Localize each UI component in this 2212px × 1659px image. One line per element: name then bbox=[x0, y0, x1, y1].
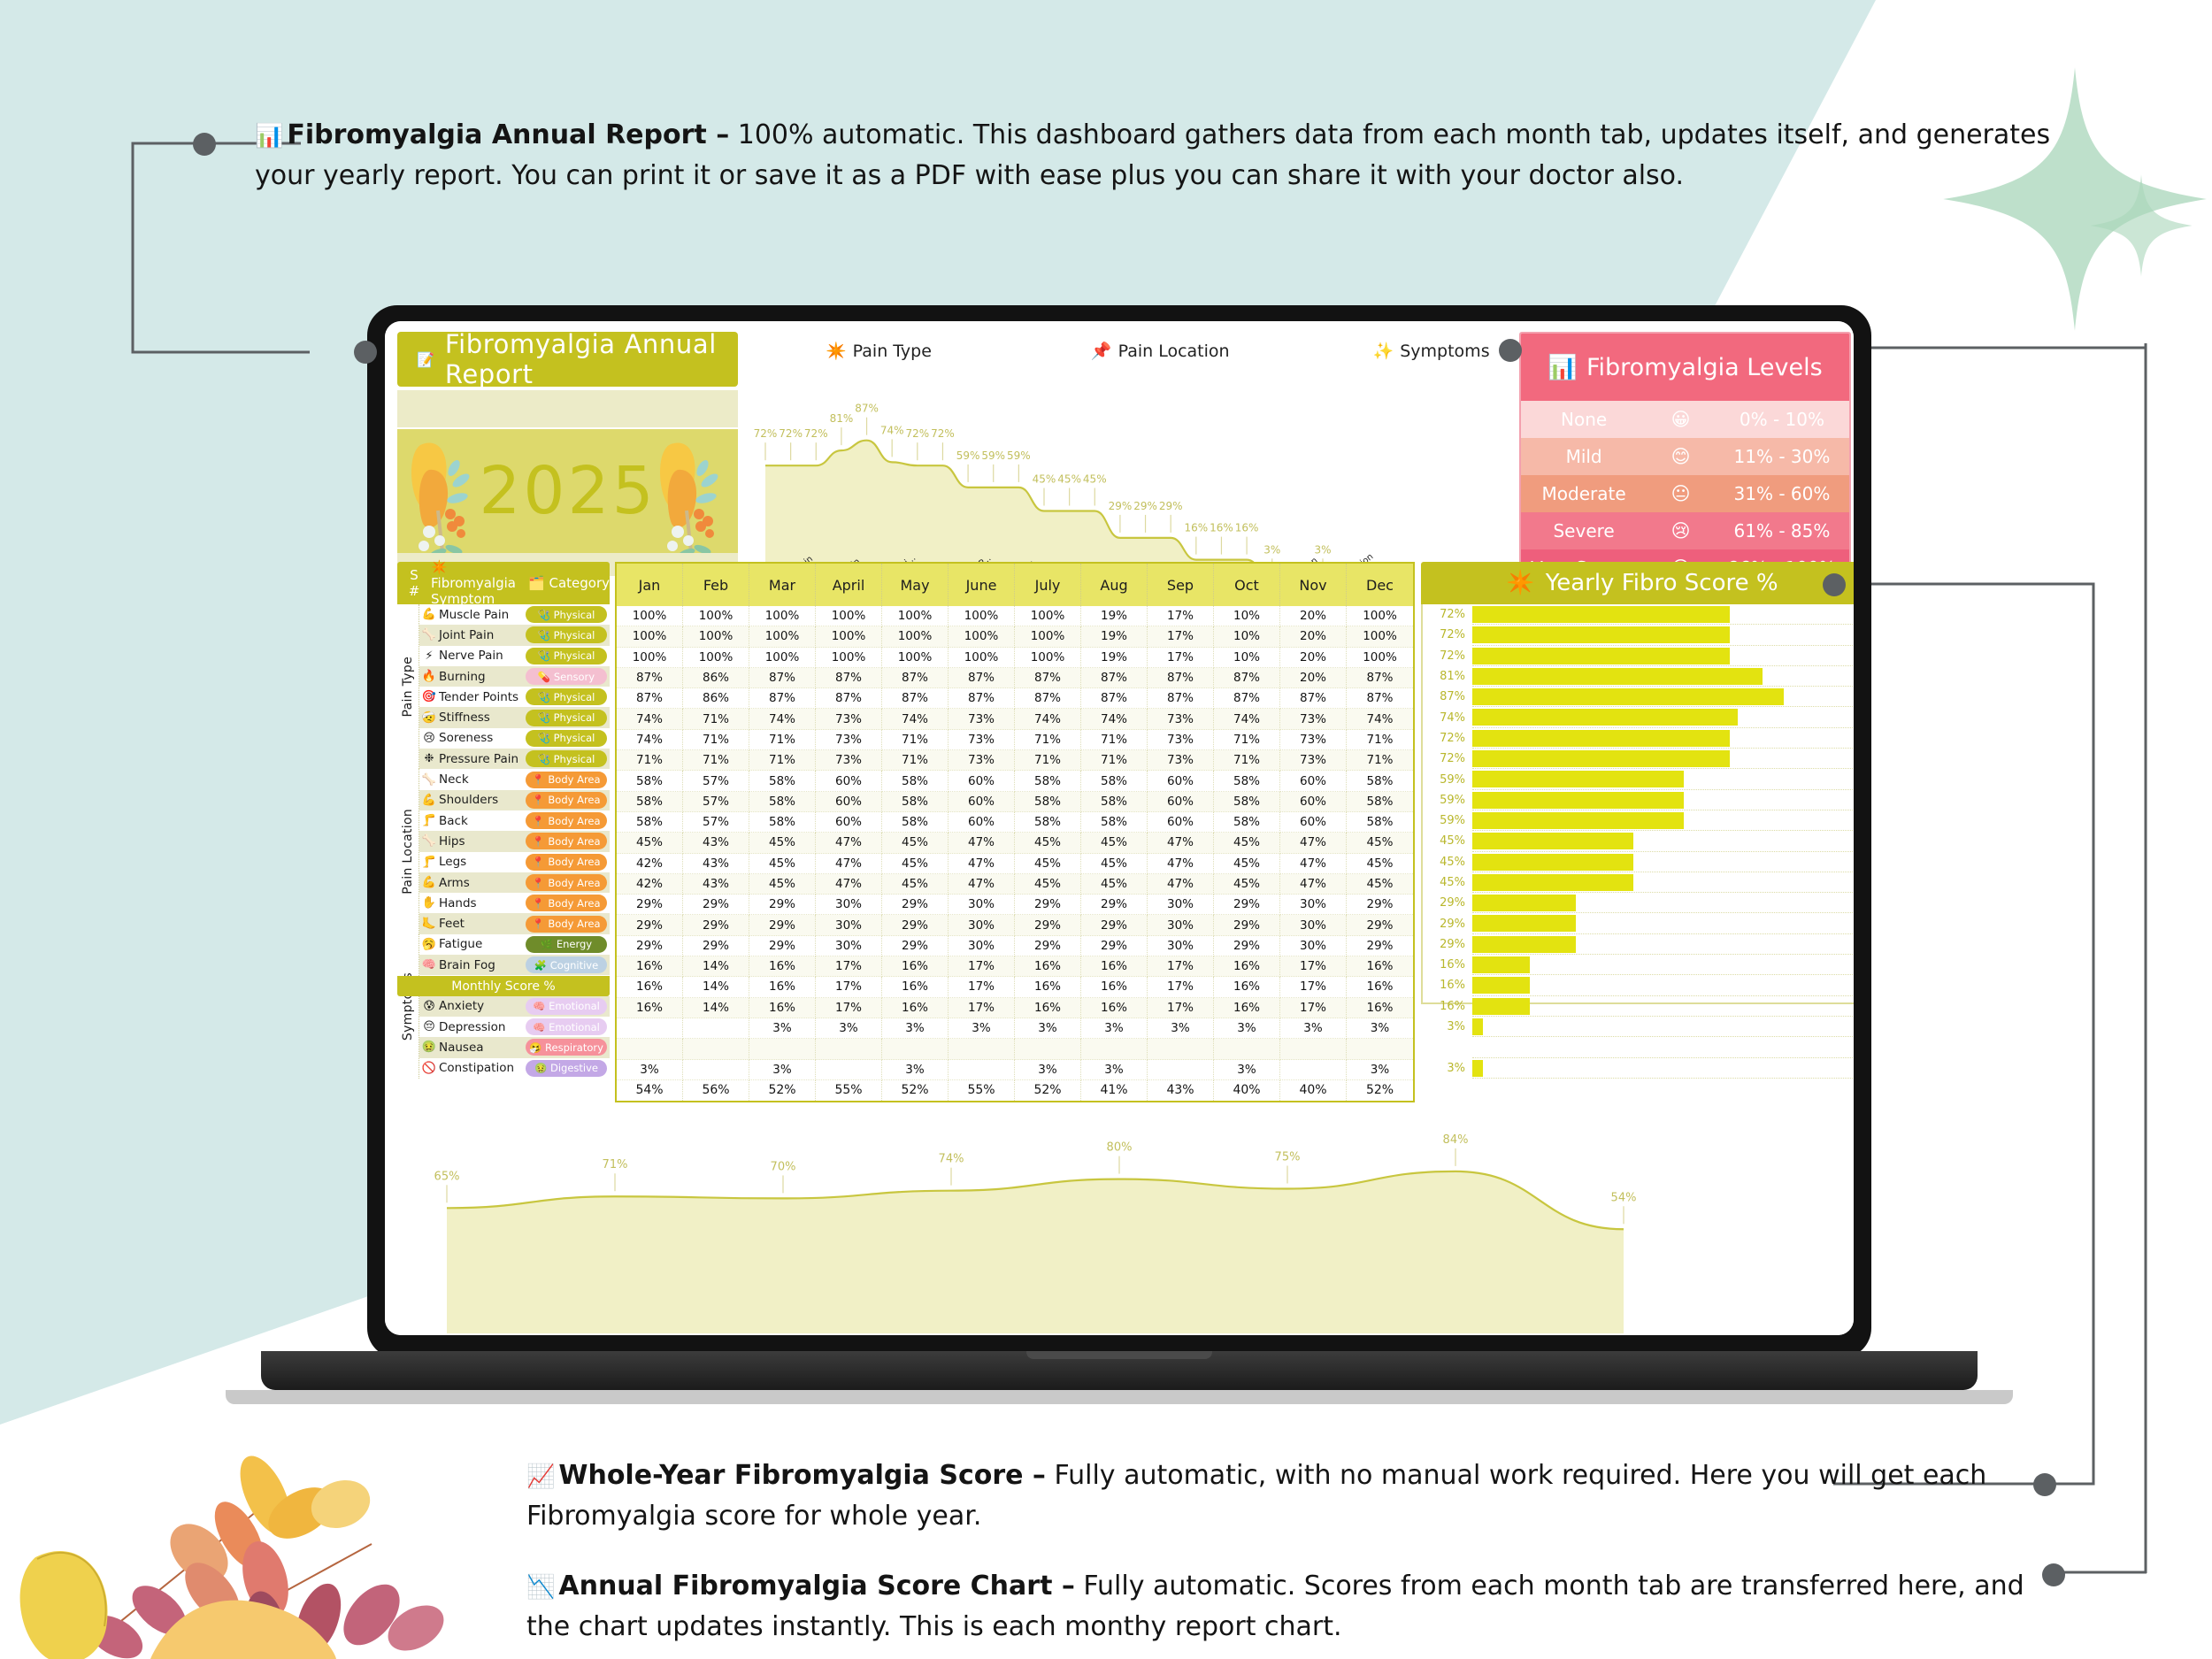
month-data-cell[interactable]: 87% bbox=[617, 688, 683, 709]
month-data-cell[interactable]: 17% bbox=[1280, 956, 1347, 977]
month-data-cell[interactable]: 71% bbox=[1214, 730, 1280, 750]
month-data-row[interactable]: 29%29%29%30%29%30%29%29%30%29%30%29% bbox=[617, 895, 1413, 915]
table-row[interactable]: 🦴Neck📍 Body Area bbox=[419, 769, 610, 789]
month-data-cell[interactable]: 30% bbox=[949, 915, 1015, 935]
month-data-cell[interactable] bbox=[1148, 1039, 1214, 1059]
month-data-cell[interactable]: 60% bbox=[1280, 792, 1347, 812]
month-data-cell[interactable]: 16% bbox=[1347, 956, 1413, 977]
month-data-cell[interactable]: 29% bbox=[617, 915, 683, 935]
month-data-cell[interactable]: 29% bbox=[749, 895, 816, 915]
month-data-cell[interactable]: 29% bbox=[882, 895, 949, 915]
month-data-row[interactable]: 42%43%45%47%45%47%45%45%47%45%47%45% bbox=[617, 874, 1413, 895]
month-data-cell[interactable]: 30% bbox=[816, 915, 882, 935]
table-row[interactable]: 🥱Fatigue🌿 Energy bbox=[419, 934, 610, 955]
month-data-cell[interactable]: 45% bbox=[882, 874, 949, 895]
month-data-cell[interactable] bbox=[683, 1060, 749, 1080]
table-row[interactable]: 🔥Burning💊 Sensory bbox=[419, 666, 610, 687]
table-row[interactable]: 🦴Hips📍 Body Area bbox=[419, 831, 610, 851]
month-data-cell[interactable]: 29% bbox=[1214, 895, 1280, 915]
month-data-cell[interactable]: 87% bbox=[1347, 668, 1413, 688]
month-data-row[interactable]: 100%100%100%100%100%100%100%19%17%10%20%… bbox=[617, 626, 1413, 647]
month-data-cell[interactable]: 14% bbox=[683, 998, 749, 1018]
month-data-cell[interactable]: 73% bbox=[1280, 709, 1347, 729]
month-data-cell[interactable]: 73% bbox=[816, 709, 882, 729]
month-data-cell[interactable]: 60% bbox=[949, 812, 1015, 833]
month-data-cell[interactable]: 45% bbox=[882, 833, 949, 853]
month-data-cell[interactable]: 100% bbox=[749, 606, 816, 626]
month-data-cell[interactable]: 60% bbox=[1280, 812, 1347, 833]
month-data-cell[interactable]: 71% bbox=[882, 750, 949, 771]
month-data-cell[interactable]: 74% bbox=[1015, 709, 1081, 729]
table-row[interactable]: 💪Muscle Pain🩺 Physical bbox=[419, 604, 610, 625]
month-data-cell[interactable]: 30% bbox=[949, 895, 1015, 915]
month-data-row[interactable]: 3%3%3%3%3%3%3%3%3%3% bbox=[617, 1018, 1413, 1039]
month-data-cell[interactable]: 58% bbox=[1081, 792, 1148, 812]
table-row[interactable]: 🎯Tender Points🩺 Physical bbox=[419, 687, 610, 707]
month-data-cell[interactable]: 16% bbox=[1015, 956, 1081, 977]
month-data-cell[interactable]: 29% bbox=[882, 915, 949, 935]
month-data-cell[interactable]: 71% bbox=[1015, 730, 1081, 750]
month-data-cell[interactable]: 73% bbox=[1280, 750, 1347, 771]
month-data-cell[interactable]: 29% bbox=[1347, 915, 1413, 935]
month-data-cell[interactable]: 100% bbox=[816, 606, 882, 626]
month-data-cell[interactable]: 3% bbox=[1081, 1060, 1148, 1080]
month-data-cell[interactable] bbox=[617, 1018, 683, 1039]
month-data-cell[interactable]: 100% bbox=[1347, 626, 1413, 647]
month-data-cell[interactable] bbox=[816, 1039, 882, 1059]
month-data-cell[interactable]: 45% bbox=[1015, 833, 1081, 853]
month-data-cell[interactable]: 57% bbox=[683, 792, 749, 812]
month-data-cell[interactable]: 45% bbox=[1347, 874, 1413, 895]
month-data-cell[interactable]: 87% bbox=[1347, 688, 1413, 709]
month-data-cell[interactable]: 3% bbox=[816, 1018, 882, 1039]
month-data-cell[interactable]: 45% bbox=[1081, 874, 1148, 895]
month-data-cell[interactable]: 17% bbox=[1148, 648, 1214, 668]
month-data-cell[interactable]: 17% bbox=[816, 956, 882, 977]
month-data-cell[interactable]: 29% bbox=[1347, 895, 1413, 915]
month-data-cell[interactable]: 16% bbox=[1214, 998, 1280, 1018]
month-data-cell[interactable]: 45% bbox=[1015, 874, 1081, 895]
month-data-cell[interactable] bbox=[949, 1039, 1015, 1059]
month-data-cell[interactable]: 100% bbox=[617, 606, 683, 626]
month-data-cell[interactable]: 45% bbox=[617, 833, 683, 853]
month-data-cell[interactable]: 16% bbox=[749, 998, 816, 1018]
month-data-cell[interactable]: 47% bbox=[1280, 833, 1347, 853]
month-data-cell[interactable]: 19% bbox=[1081, 606, 1148, 626]
table-row[interactable]: 💪Shoulders📍 Body Area bbox=[419, 790, 610, 810]
month-data-cell[interactable]: 87% bbox=[749, 688, 816, 709]
month-data-cell[interactable]: 3% bbox=[1081, 1018, 1148, 1039]
month-data-row[interactable]: 74%71%74%73%74%73%74%74%73%74%73%74% bbox=[617, 709, 1413, 729]
month-data-cell[interactable]: 87% bbox=[617, 668, 683, 688]
month-data-cell[interactable]: 100% bbox=[949, 626, 1015, 647]
month-data-cell[interactable]: 17% bbox=[949, 977, 1015, 997]
month-data-cell[interactable]: 74% bbox=[617, 730, 683, 750]
month-data-cell[interactable]: 47% bbox=[816, 874, 882, 895]
month-data-cell[interactable]: 74% bbox=[882, 709, 949, 729]
month-data-cell[interactable]: 16% bbox=[1214, 977, 1280, 997]
month-data-row[interactable]: 87%86%87%87%87%87%87%87%87%87%87%87% bbox=[617, 688, 1413, 709]
month-data-cell[interactable]: 100% bbox=[617, 626, 683, 647]
month-data-cell[interactable]: 87% bbox=[1015, 688, 1081, 709]
month-data-cell[interactable]: 86% bbox=[683, 668, 749, 688]
month-data-cell[interactable]: 17% bbox=[1280, 977, 1347, 997]
month-data-cell[interactable]: 30% bbox=[816, 895, 882, 915]
month-data-cell[interactable] bbox=[1015, 1039, 1081, 1059]
month-data-cell[interactable]: 17% bbox=[816, 998, 882, 1018]
month-data-cell[interactable]: 47% bbox=[1280, 854, 1347, 874]
month-data-cell[interactable]: 73% bbox=[949, 750, 1015, 771]
month-data-cell[interactable]: 47% bbox=[816, 854, 882, 874]
month-data-cell[interactable]: 16% bbox=[1081, 977, 1148, 997]
month-data-cell[interactable]: 73% bbox=[949, 709, 1015, 729]
month-data-cell[interactable]: 100% bbox=[1015, 606, 1081, 626]
month-data-cell[interactable]: 45% bbox=[1347, 854, 1413, 874]
month-data-cell[interactable]: 16% bbox=[1347, 998, 1413, 1018]
month-data-cell[interactable]: 45% bbox=[1214, 874, 1280, 895]
month-data-cell[interactable]: 3% bbox=[1347, 1018, 1413, 1039]
month-data-cell[interactable]: 3% bbox=[1214, 1060, 1280, 1080]
month-data-cell[interactable]: 45% bbox=[1214, 854, 1280, 874]
month-data-cell[interactable]: 60% bbox=[816, 792, 882, 812]
month-data-cell[interactable]: 87% bbox=[949, 688, 1015, 709]
month-data-cell[interactable]: 16% bbox=[1015, 977, 1081, 997]
table-row[interactable]: 😰Anxiety🧠 Emotional bbox=[419, 996, 610, 1017]
month-data-cell[interactable]: 60% bbox=[1148, 771, 1214, 791]
month-data-row[interactable]: 16%14%16%17%16%17%16%16%17%16%17%16% bbox=[617, 998, 1413, 1018]
month-data-cell[interactable]: 71% bbox=[1347, 730, 1413, 750]
month-data-cell[interactable]: 29% bbox=[1015, 915, 1081, 935]
month-data-cell[interactable]: 29% bbox=[1214, 915, 1280, 935]
month-data-cell[interactable]: 87% bbox=[1148, 688, 1214, 709]
month-data-cell[interactable]: 87% bbox=[882, 668, 949, 688]
month-data-cell[interactable]: 47% bbox=[949, 874, 1015, 895]
month-data-cell[interactable] bbox=[1280, 1060, 1347, 1080]
month-data-cell[interactable]: 71% bbox=[683, 750, 749, 771]
month-data-cell[interactable]: 60% bbox=[1148, 792, 1214, 812]
month-data-cell[interactable]: 58% bbox=[1347, 792, 1413, 812]
month-data-cell[interactable]: 3% bbox=[749, 1018, 816, 1039]
month-data-cell[interactable]: 100% bbox=[1347, 606, 1413, 626]
table-row[interactable]: 🦴Joint Pain🩺 Physical bbox=[419, 625, 610, 645]
month-data-cell[interactable]: 47% bbox=[949, 833, 1015, 853]
month-data-cell[interactable]: 58% bbox=[1214, 771, 1280, 791]
month-data-cell[interactable]: 30% bbox=[1148, 936, 1214, 956]
month-data-cell[interactable]: 14% bbox=[683, 977, 749, 997]
month-data-cell[interactable]: 16% bbox=[617, 956, 683, 977]
month-data-cell[interactable]: 3% bbox=[1015, 1018, 1081, 1039]
month-data-cell[interactable]: 16% bbox=[882, 998, 949, 1018]
month-data-cell[interactable]: 29% bbox=[749, 936, 816, 956]
month-data-cell[interactable]: 86% bbox=[683, 688, 749, 709]
month-data-cell[interactable]: 17% bbox=[1148, 606, 1214, 626]
month-data-cell[interactable] bbox=[617, 1039, 683, 1059]
table-row[interactable]: ❉Pressure Pain🩺 Physical bbox=[419, 749, 610, 769]
month-data-cell[interactable]: 20% bbox=[1280, 626, 1347, 647]
month-data-cell[interactable]: 71% bbox=[1081, 750, 1148, 771]
month-data-cell[interactable]: 58% bbox=[1347, 771, 1413, 791]
month-data-cell[interactable] bbox=[749, 1039, 816, 1059]
month-data-row[interactable]: 74%71%71%73%71%73%71%71%73%71%73%71% bbox=[617, 730, 1413, 750]
month-data-cell[interactable]: 71% bbox=[1214, 750, 1280, 771]
month-data-cell[interactable] bbox=[683, 1039, 749, 1059]
month-data-cell[interactable]: 60% bbox=[949, 792, 1015, 812]
month-data-cell[interactable]: 73% bbox=[1148, 730, 1214, 750]
month-data-cell[interactable]: 29% bbox=[1081, 936, 1148, 956]
table-row[interactable]: 😢Soreness🩺 Physical bbox=[419, 728, 610, 749]
month-data-cell[interactable] bbox=[1214, 1039, 1280, 1059]
month-data-cell[interactable]: 29% bbox=[1081, 915, 1148, 935]
month-data-row[interactable]: 100%100%100%100%100%100%100%19%17%10%20%… bbox=[617, 606, 1413, 626]
month-data-cell[interactable]: 58% bbox=[749, 812, 816, 833]
month-data-cell[interactable]: 60% bbox=[1148, 812, 1214, 833]
month-data-cell[interactable]: 3% bbox=[882, 1060, 949, 1080]
month-data-cell[interactable]: 73% bbox=[1280, 730, 1347, 750]
month-data-cell[interactable]: 100% bbox=[816, 626, 882, 647]
month-data-cell[interactable]: 57% bbox=[683, 771, 749, 791]
month-data-cell[interactable]: 42% bbox=[617, 854, 683, 874]
month-data-cell[interactable]: 58% bbox=[617, 771, 683, 791]
month-data-cell[interactable]: 17% bbox=[949, 956, 1015, 977]
month-data-cell[interactable]: 17% bbox=[1148, 626, 1214, 647]
month-data-cell[interactable]: 47% bbox=[949, 854, 1015, 874]
month-data-cell[interactable]: 87% bbox=[1214, 668, 1280, 688]
month-data-cell[interactable]: 45% bbox=[1015, 854, 1081, 874]
month-data-cell[interactable]: 17% bbox=[816, 977, 882, 997]
month-data-cell[interactable]: 87% bbox=[1081, 688, 1148, 709]
month-data-cell[interactable]: 19% bbox=[1081, 626, 1148, 647]
month-data-cell[interactable]: 19% bbox=[1081, 648, 1148, 668]
month-data-cell[interactable]: 100% bbox=[683, 648, 749, 668]
month-data-cell[interactable]: 87% bbox=[1015, 668, 1081, 688]
month-data-cell[interactable]: 47% bbox=[1148, 854, 1214, 874]
month-data-cell[interactable]: 29% bbox=[1015, 936, 1081, 956]
month-data-cell[interactable]: 60% bbox=[816, 771, 882, 791]
month-data-cell[interactable]: 29% bbox=[1347, 936, 1413, 956]
month-data-cell[interactable]: 71% bbox=[683, 709, 749, 729]
month-data-cell[interactable]: 58% bbox=[882, 812, 949, 833]
table-row[interactable]: 🦶Feet📍 Body Area bbox=[419, 913, 610, 933]
month-data-cell[interactable]: 87% bbox=[882, 688, 949, 709]
month-data-row[interactable]: 71%71%71%73%71%73%71%71%73%71%73%71% bbox=[617, 750, 1413, 771]
month-data-cell[interactable]: 43% bbox=[683, 874, 749, 895]
month-data-cell[interactable]: 71% bbox=[882, 730, 949, 750]
month-data-cell[interactable]: 17% bbox=[1148, 998, 1214, 1018]
month-data-cell[interactable]: 74% bbox=[1214, 709, 1280, 729]
month-data-row[interactable]: 100%100%100%100%100%100%100%19%17%10%20%… bbox=[617, 648, 1413, 668]
month-data-cell[interactable]: 100% bbox=[749, 626, 816, 647]
month-data-cell[interactable]: 17% bbox=[949, 998, 1015, 1018]
month-data-cell[interactable]: 16% bbox=[749, 977, 816, 997]
month-data-cell[interactable]: 29% bbox=[617, 895, 683, 915]
month-data-cell[interactable]: 58% bbox=[1015, 812, 1081, 833]
month-data-cell[interactable]: 3% bbox=[1214, 1018, 1280, 1039]
month-data-cell[interactable]: 30% bbox=[949, 936, 1015, 956]
month-data-cell[interactable]: 100% bbox=[949, 648, 1015, 668]
month-data-cell[interactable]: 3% bbox=[1015, 1060, 1081, 1080]
month-data-cell[interactable]: 29% bbox=[683, 895, 749, 915]
month-data-cell[interactable]: 45% bbox=[1081, 854, 1148, 874]
month-data-cell[interactable]: 14% bbox=[683, 956, 749, 977]
month-data-cell[interactable]: 60% bbox=[1280, 771, 1347, 791]
month-data-cell[interactable] bbox=[816, 1060, 882, 1080]
month-data-cell[interactable]: 29% bbox=[617, 936, 683, 956]
month-data-cell[interactable]: 73% bbox=[816, 730, 882, 750]
month-data-cell[interactable]: 58% bbox=[882, 792, 949, 812]
month-data-cell[interactable]: 58% bbox=[1081, 812, 1148, 833]
month-data-cell[interactable]: 43% bbox=[683, 854, 749, 874]
month-data-row[interactable]: 58%57%58%60%58%60%58%58%60%58%60%58% bbox=[617, 812, 1413, 833]
month-data-row[interactable]: 58%57%58%60%58%60%58%58%60%58%60%58% bbox=[617, 792, 1413, 812]
month-data-cell[interactable]: 87% bbox=[1081, 668, 1148, 688]
month-data-cell[interactable]: 16% bbox=[617, 998, 683, 1018]
month-data-cell[interactable]: 16% bbox=[1015, 998, 1081, 1018]
month-data-cell[interactable]: 60% bbox=[949, 771, 1015, 791]
month-data-cell[interactable]: 71% bbox=[617, 750, 683, 771]
month-data-cell[interactable]: 100% bbox=[1015, 648, 1081, 668]
month-data-row[interactable]: 58%57%58%60%58%60%58%58%60%58%60%58% bbox=[617, 771, 1413, 791]
month-data-cell[interactable]: 60% bbox=[816, 812, 882, 833]
month-data-cell[interactable]: 45% bbox=[1347, 833, 1413, 853]
month-data-cell[interactable]: 58% bbox=[617, 792, 683, 812]
month-data-cell[interactable]: 87% bbox=[816, 668, 882, 688]
table-row[interactable]: 🤕Stiffness🩺 Physical bbox=[419, 707, 610, 727]
month-data-cell[interactable]: 17% bbox=[1148, 956, 1214, 977]
month-data-cell[interactable]: 45% bbox=[882, 854, 949, 874]
month-data-cell[interactable]: 45% bbox=[749, 854, 816, 874]
month-data-cell[interactable]: 58% bbox=[617, 812, 683, 833]
month-data-cell[interactable]: 10% bbox=[1214, 606, 1280, 626]
month-data-cell[interactable]: 45% bbox=[749, 874, 816, 895]
month-data-cell[interactable] bbox=[1081, 1039, 1148, 1059]
month-data-cell[interactable]: 16% bbox=[1081, 998, 1148, 1018]
month-data-cell[interactable]: 58% bbox=[1214, 812, 1280, 833]
month-data-cell[interactable]: 45% bbox=[1081, 833, 1148, 853]
month-data-cell[interactable]: 47% bbox=[1148, 874, 1214, 895]
table-row[interactable]: ✋Hands📍 Body Area bbox=[419, 893, 610, 913]
month-data-cell[interactable]: 29% bbox=[1081, 895, 1148, 915]
month-data-cell[interactable]: 100% bbox=[882, 626, 949, 647]
month-data-row[interactable]: 42%43%45%47%45%47%45%45%47%45%47%45% bbox=[617, 854, 1413, 874]
month-data-cell[interactable]: 3% bbox=[617, 1060, 683, 1080]
month-data-cell[interactable]: 29% bbox=[1214, 936, 1280, 956]
month-data-cell[interactable]: 29% bbox=[683, 936, 749, 956]
month-data-cell[interactable]: 16% bbox=[1214, 956, 1280, 977]
month-data-cell[interactable]: 100% bbox=[749, 648, 816, 668]
month-data-cell[interactable]: 3% bbox=[1280, 1018, 1347, 1039]
month-data-cell[interactable]: 71% bbox=[1015, 750, 1081, 771]
month-data-cell[interactable]: 57% bbox=[683, 812, 749, 833]
month-data-cell[interactable]: 87% bbox=[949, 668, 1015, 688]
month-data-cell[interactable]: 71% bbox=[683, 730, 749, 750]
month-data-cell[interactable]: 71% bbox=[749, 730, 816, 750]
month-data-cell[interactable]: 100% bbox=[1015, 626, 1081, 647]
month-data-cell[interactable]: 29% bbox=[749, 915, 816, 935]
month-data-cell[interactable]: 43% bbox=[683, 833, 749, 853]
month-data-cell[interactable]: 30% bbox=[1148, 915, 1214, 935]
table-row[interactable]: 💪Arms📍 Body Area bbox=[419, 872, 610, 893]
month-data-cell[interactable]: 74% bbox=[1347, 709, 1413, 729]
month-data-cell[interactable]: 16% bbox=[882, 977, 949, 997]
month-data-cell[interactable]: 45% bbox=[749, 833, 816, 853]
month-data-cell[interactable] bbox=[882, 1039, 949, 1059]
month-data-cell[interactable]: 16% bbox=[882, 956, 949, 977]
month-data-cell[interactable]: 10% bbox=[1214, 626, 1280, 647]
month-data-cell[interactable]: 100% bbox=[882, 648, 949, 668]
month-data-cell[interactable]: 16% bbox=[617, 977, 683, 997]
month-data-cell[interactable]: 87% bbox=[1214, 688, 1280, 709]
month-data-cell[interactable]: 73% bbox=[949, 730, 1015, 750]
month-data-row[interactable]: 16%14%16%17%16%17%16%16%17%16%17%16% bbox=[617, 977, 1413, 997]
month-data-cell[interactable]: 16% bbox=[1347, 977, 1413, 997]
month-data-cell[interactable]: 100% bbox=[617, 648, 683, 668]
month-data-cell[interactable]: 100% bbox=[683, 626, 749, 647]
table-row[interactable]: 😔Depression🧠 Emotional bbox=[419, 1017, 610, 1037]
month-data-cell[interactable]: 3% bbox=[749, 1060, 816, 1080]
month-data-cell[interactable]: 73% bbox=[1148, 709, 1214, 729]
month-data-cell[interactable]: 74% bbox=[749, 709, 816, 729]
month-data-cell[interactable]: 45% bbox=[1214, 833, 1280, 853]
month-data-row[interactable]: 16%14%16%17%16%17%16%16%17%16%17%16% bbox=[617, 956, 1413, 977]
month-data-cell[interactable]: 58% bbox=[1015, 771, 1081, 791]
month-data-cell[interactable]: 58% bbox=[882, 771, 949, 791]
month-data-cell[interactable]: 58% bbox=[1015, 792, 1081, 812]
month-data-cell[interactable] bbox=[683, 1018, 749, 1039]
month-data-cell[interactable]: 100% bbox=[882, 606, 949, 626]
month-data-cell[interactable]: 3% bbox=[1148, 1018, 1214, 1039]
month-data-row[interactable]: 29%29%29%30%29%30%29%29%30%29%30%29% bbox=[617, 915, 1413, 935]
month-data-cell[interactable]: 20% bbox=[1280, 606, 1347, 626]
month-data-cell[interactable]: 29% bbox=[1015, 895, 1081, 915]
month-data-cell[interactable]: 30% bbox=[1280, 895, 1347, 915]
month-data-cell[interactable]: 3% bbox=[1347, 1060, 1413, 1080]
month-data-cell[interactable] bbox=[1347, 1039, 1413, 1059]
month-data-cell[interactable] bbox=[949, 1060, 1015, 1080]
month-data-cell[interactable]: 71% bbox=[1347, 750, 1413, 771]
month-data-cell[interactable]: 3% bbox=[882, 1018, 949, 1039]
month-data-cell[interactable]: 58% bbox=[1214, 792, 1280, 812]
month-data-cell[interactable]: 87% bbox=[1280, 688, 1347, 709]
month-data-cell[interactable]: 47% bbox=[1148, 833, 1214, 853]
month-data-cell[interactable]: 29% bbox=[683, 915, 749, 935]
table-row[interactable]: 🚫Constipation🤢 Digestive bbox=[419, 1058, 610, 1079]
month-data-row[interactable]: 3%3%3%3%3%3%3% bbox=[617, 1060, 1413, 1080]
month-data-cell[interactable] bbox=[1280, 1039, 1347, 1059]
month-data-cell[interactable]: 58% bbox=[1081, 771, 1148, 791]
month-data-cell[interactable]: 30% bbox=[816, 936, 882, 956]
month-data-row[interactable]: 45%43%45%47%45%47%45%45%47%45%47%45% bbox=[617, 833, 1413, 853]
month-data-cell[interactable]: 87% bbox=[1148, 668, 1214, 688]
month-data-cell[interactable]: 58% bbox=[1347, 812, 1413, 833]
month-data-cell[interactable]: 100% bbox=[1347, 648, 1413, 668]
month-data-cell[interactable]: 74% bbox=[1081, 709, 1148, 729]
month-data-cell[interactable] bbox=[1148, 1060, 1214, 1080]
month-data-cell[interactable]: 100% bbox=[949, 606, 1015, 626]
month-data-cell[interactable]: 30% bbox=[1148, 895, 1214, 915]
month-data-cell[interactable]: 73% bbox=[816, 750, 882, 771]
month-data-cell[interactable]: 71% bbox=[1081, 730, 1148, 750]
table-row[interactable]: 🧠Brain Fog🧩 Cognitive bbox=[419, 955, 610, 975]
month-data-row[interactable] bbox=[617, 1039, 1413, 1059]
month-data-cell[interactable]: 30% bbox=[1280, 915, 1347, 935]
month-data-cell[interactable]: 16% bbox=[1081, 956, 1148, 977]
month-data-cell[interactable]: 3% bbox=[949, 1018, 1015, 1039]
table-row[interactable]: 🦵Back📍 Body Area bbox=[419, 810, 610, 831]
month-data-cell[interactable]: 47% bbox=[1280, 874, 1347, 895]
month-data-cell[interactable]: 17% bbox=[1280, 998, 1347, 1018]
month-data-cell[interactable]: 87% bbox=[816, 688, 882, 709]
month-data-cell[interactable]: 58% bbox=[749, 771, 816, 791]
